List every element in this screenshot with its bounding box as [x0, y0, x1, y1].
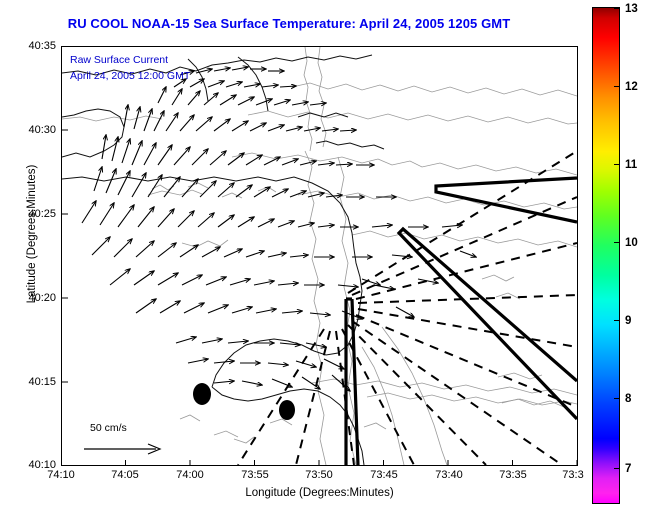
x-axis-tick-marks: [61, 456, 579, 467]
vector-scale-label: 50 cm/s: [90, 422, 127, 434]
colorbar-gradient: [593, 8, 619, 503]
colorbar-tick-label: 11: [625, 159, 637, 171]
radar-site-markers: [193, 383, 295, 420]
x-tick-label: 74:00: [176, 469, 204, 481]
radar-site-marker: [193, 383, 211, 405]
x-tick-label: 73:3: [562, 469, 583, 481]
map-plot-area[interactable]: Raw Surface Current April 24, 2005 12:00…: [61, 46, 578, 466]
x-tick-label: 74:10: [47, 469, 75, 481]
colorbar-tick-label: 12: [625, 81, 638, 93]
annotation-line-2: April 24, 2005 12:00 GMT: [70, 70, 190, 82]
y-axis-title: Latitude (Degrees:Minutes): [26, 134, 38, 334]
x-tick-label: 73:45: [370, 469, 398, 481]
y-tick-label: 40:35: [28, 40, 56, 52]
radar-site-marker: [279, 400, 295, 420]
x-axis-title: Longitude (Degrees:Minutes): [61, 487, 578, 499]
colorbar-tick-label: 7: [625, 463, 631, 475]
map-overlays: [62, 47, 577, 465]
colorbar-tick-label: 10: [625, 237, 638, 249]
colorbar-tick-label: 9: [625, 315, 631, 327]
colorbar[interactable]: [592, 7, 620, 504]
annotation-line-1: Raw Surface Current: [70, 54, 168, 66]
x-tick-label: 73:55: [241, 469, 269, 481]
y-tick-label: 40:15: [28, 376, 56, 388]
x-tick-label: 73:40: [435, 469, 463, 481]
page-title: RU COOL NOAA-15 Sea Surface Temperature:…: [0, 16, 578, 31]
figure-canvas: RU COOL NOAA-15 Sea Surface Temperature:…: [0, 0, 651, 515]
coastline: [62, 55, 384, 465]
surface-current-vectors: [82, 67, 476, 391]
radar-boundary-wedges: [346, 178, 577, 465]
x-tick-label: 73:50: [305, 469, 333, 481]
colorbar-tick-label: 13: [625, 3, 638, 15]
x-tick-label: 74:05: [111, 469, 139, 481]
x-tick-label: 73:35: [499, 469, 527, 481]
colorbar-tick-label: 8: [625, 393, 631, 405]
y-axis-tick-marks: [61, 46, 71, 467]
